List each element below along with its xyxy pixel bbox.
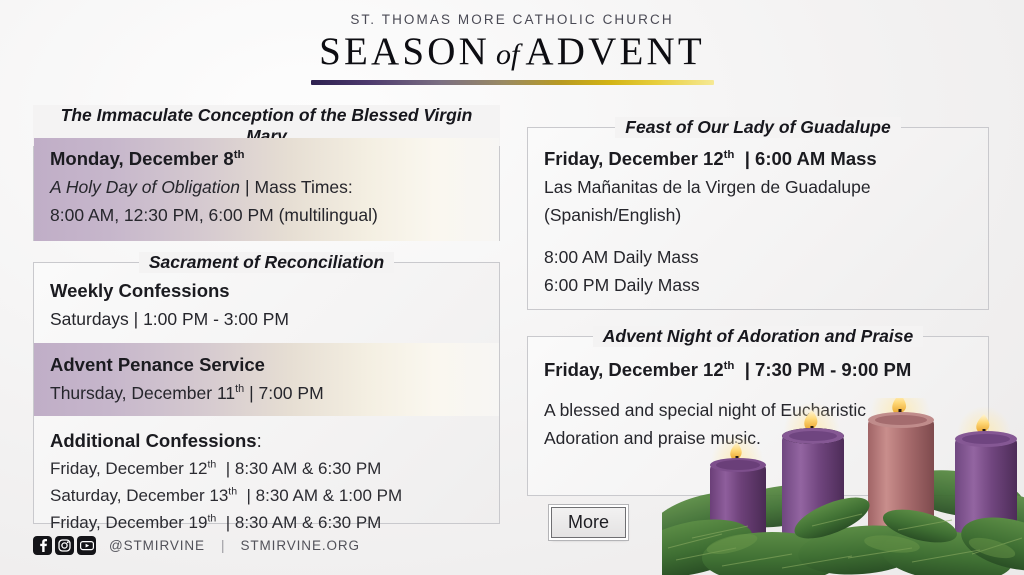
social-handle: @STMIRVINE — [109, 538, 205, 553]
highlight-band-immaculate: Monday, December 8th A Holy Day of Oblig… — [34, 138, 499, 241]
guadalupe-date: Friday, December 12th | 6:00 AM Mass — [528, 144, 988, 173]
guadalupe-body: Friday, December 12th | 6:00 AM Mass Las… — [528, 144, 988, 299]
footer: @STMIRVINE | STMIRVINE.ORG — [33, 536, 360, 555]
immaculate-mass-times: 8:00 AM, 12:30 PM, 6:00 PM (multilingual… — [34, 201, 499, 229]
immaculate-date: Monday, December 8th — [34, 144, 499, 173]
footer-divider: | — [221, 538, 225, 553]
more-button[interactable]: More — [551, 507, 626, 538]
website-url: STMIRVINE.ORG — [240, 538, 359, 553]
weekly-confessions-detail: Saturdays | 1:00 PM - 3:00 PM — [34, 305, 499, 333]
spacer — [528, 384, 988, 396]
weekly-confessions-heading: Weekly Confessions — [34, 276, 499, 305]
spacer — [528, 229, 988, 243]
guadalupe-mananitas: Las Mañanitas de la Virgen de Guadalupe — [528, 173, 988, 201]
weekly-confessions-section: Weekly Confessions Saturdays | 1:00 PM -… — [34, 263, 499, 333]
highlight-band-penance: Advent Penance Service Thursday, Decembe… — [34, 343, 499, 416]
additional-confessions-section: Additional Confessions: Friday, December… — [34, 416, 499, 536]
guadalupe-daily-mass-am: 8:00 AM Daily Mass — [528, 243, 988, 271]
penance-service-detail: Thursday, December 11th | 7:00 PM — [34, 379, 499, 407]
page-title-advent: ADVENT — [525, 30, 705, 73]
additional-confessions-heading: Additional Confessions: — [34, 426, 499, 455]
penance-service-heading: Advent Penance Service — [34, 350, 499, 379]
header: ST. THOMAS MORE CATHOLIC CHURCH SEASONof… — [0, 12, 1024, 85]
adoration-date: Friday, December 12th | 7:30 PM - 9:00 P… — [528, 355, 988, 384]
advent-wreath-image — [662, 398, 1024, 575]
page-title-of: of — [490, 38, 525, 71]
church-name: ST. THOMAS MORE CATHOLIC CHURCH — [0, 12, 1024, 27]
advent-flyer: ST. THOMAS MORE CATHOLIC CHURCH SEASONof… — [0, 0, 1024, 575]
panel-immaculate-conception: The Immaculate Conception of the Blessed… — [33, 126, 500, 241]
list-item: Friday, December 12th | 8:30 AM & 6:30 P… — [34, 455, 499, 482]
immaculate-obligation: A Holy Day of Obligation|Mass Times: — [34, 173, 499, 201]
page-title: SEASONofADVENT — [0, 32, 1024, 71]
guadalupe-daily-mass-pm: 6:00 PM Daily Mass — [528, 271, 988, 299]
youtube-icon[interactable] — [77, 536, 96, 555]
page-title-season: SEASON — [319, 30, 490, 73]
advent-wreath-illustration — [662, 398, 1024, 575]
panel-title-adoration: Advent Night of Adoration and Praise — [528, 326, 988, 347]
panel-reconciliation: Sacrament of Reconciliation Weekly Confe… — [33, 262, 500, 524]
list-item: Friday, December 19th | 8:30 AM & 6:30 P… — [34, 509, 499, 536]
facebook-icon[interactable] — [33, 536, 52, 555]
panel-title-guadalupe: Feast of Our Lady of Guadalupe — [528, 117, 988, 138]
list-item: Saturday, December 13th | 8:30 AM & 1:00… — [34, 482, 499, 509]
instagram-icon[interactable] — [55, 536, 74, 555]
panel-guadalupe: Feast of Our Lady of Guadalupe Friday, D… — [527, 127, 989, 310]
gradient-divider — [311, 80, 714, 85]
guadalupe-language: (Spanish/English) — [528, 201, 988, 229]
